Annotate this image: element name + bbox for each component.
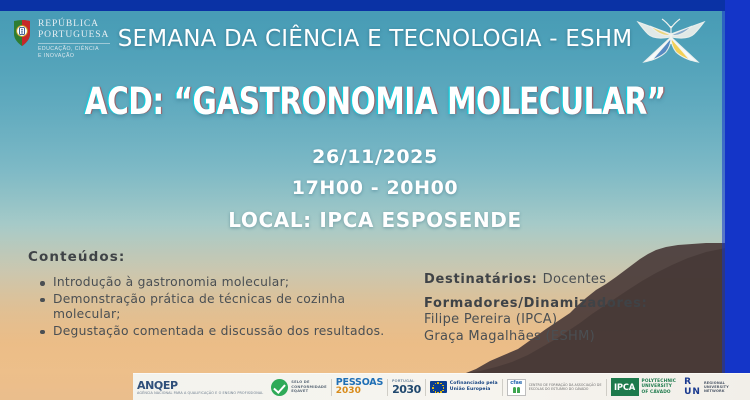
run-mark-icon: R UN	[684, 378, 701, 397]
ipca-logo: IPCA POLYTECHNIC UNIVERSITY OF CÁVADO	[607, 374, 681, 400]
frame-bar-top	[0, 0, 750, 11]
audience-trainers-block: Destinatários: Docentes Formadores/Dinam…	[424, 268, 724, 345]
check-icon	[271, 379, 288, 396]
list-item: Degustação comentada e discussão dos res…	[38, 324, 388, 340]
ipca-line3: OF CÁVADO	[642, 390, 677, 395]
audience-row: Destinatários: Docentes	[424, 268, 724, 287]
run-letters-bottom: UN	[684, 388, 701, 397]
eqavet-line3: EQAVET	[291, 389, 327, 394]
list-item: Introdução à gastronomia molecular;	[38, 275, 388, 291]
event-place: LOCAL: IPCA ESPOSENDE	[0, 204, 750, 236]
audience-value: Docentes	[543, 272, 607, 287]
audience-label: Destinatários:	[424, 272, 538, 287]
event-kicker: SEMANA DA CIÊNCIA E TECNOLOGIA - ESHM	[0, 26, 750, 52]
run-logo: R UN REGIONAL UNIVERSITY NETWORK	[680, 374, 733, 400]
run-letters-top: R	[684, 378, 701, 387]
list-item: Demonstração prática de técnicas de cozi…	[38, 292, 388, 323]
anqep-wordmark: ANQEP	[137, 380, 263, 391]
event-time: 17H00 - 20H00	[0, 172, 750, 204]
contents-block: Conteúdos: Introdução à gastronomia mole…	[28, 248, 388, 340]
footer-logo-strip: ANQEP AGÊNCIA NACIONAL PARA A QUALIFICAÇ…	[133, 373, 750, 400]
ipca-wordmark: IPCA	[611, 378, 639, 396]
european-union-logo: Cofinanciado pela União Europeia	[426, 374, 502, 400]
event-meta: 26/11/2025 17H00 - 20H00 LOCAL: IPCA ESP…	[0, 142, 750, 236]
trainer-name: Graça Magalhães (ESHM)	[424, 328, 724, 345]
contents-list: Introdução à gastronomia molecular; Demo…	[38, 275, 388, 339]
ipca-line2: UNIVERSITY	[642, 384, 677, 389]
cfae-logo: cfae CENTRO DE FORMAÇÃO DA ASSOCIAÇÃO DE…	[503, 374, 606, 400]
cfae-sub2: ESCOLAS DO ESTUÁRIO DO CÁVADO	[529, 387, 602, 391]
cfae-figures-icon	[513, 387, 520, 393]
cfae-mark-icon: cfae	[507, 379, 526, 396]
anqep-subtitle: AGÊNCIA NACIONAL PARA A QUALIFICAÇÃO E O…	[137, 391, 263, 395]
portugal2030-logo: PORTUGAL 2030	[388, 374, 425, 400]
portugal2030-line2: 2030	[392, 384, 421, 395]
gov-logo-sub2: E INOVAÇÃO	[38, 53, 110, 60]
trainers-row: Formadores/Dinamizadores: Filipe Pereira…	[424, 296, 724, 345]
poster-title: ACD: “GASTRONOMIA MOLECULAR”	[84, 80, 665, 123]
trainers-label: Formadores/Dinamizadores:	[424, 296, 724, 311]
poster-canvas: REPÚBLICA PORTUGUESA EDUCAÇÃO, CIÊNCIA E…	[0, 0, 750, 400]
pessoas2030-logo: PESSOAS 2030	[332, 374, 387, 400]
event-date: 26/11/2025	[0, 142, 750, 172]
poster-title-wrap: ACD: “GASTRONOMIA MOLECULAR”	[0, 80, 750, 123]
pessoas2030-line2: 2030	[336, 387, 383, 397]
eu-line2: União Europeia	[450, 387, 498, 393]
eu-flag-icon	[430, 381, 447, 393]
contents-heading: Conteúdos:	[28, 248, 388, 266]
cfae-wordmark: cfae	[510, 381, 522, 387]
eqavet-seal: SELO DE CONFORMIDADE EQAVET	[267, 374, 331, 400]
trainer-name: Filipe Pereira (IPCA)	[424, 311, 724, 328]
run-line3: NETWORK	[704, 389, 729, 393]
anqep-logo: ANQEP AGÊNCIA NACIONAL PARA A QUALIFICAÇ…	[133, 374, 267, 400]
